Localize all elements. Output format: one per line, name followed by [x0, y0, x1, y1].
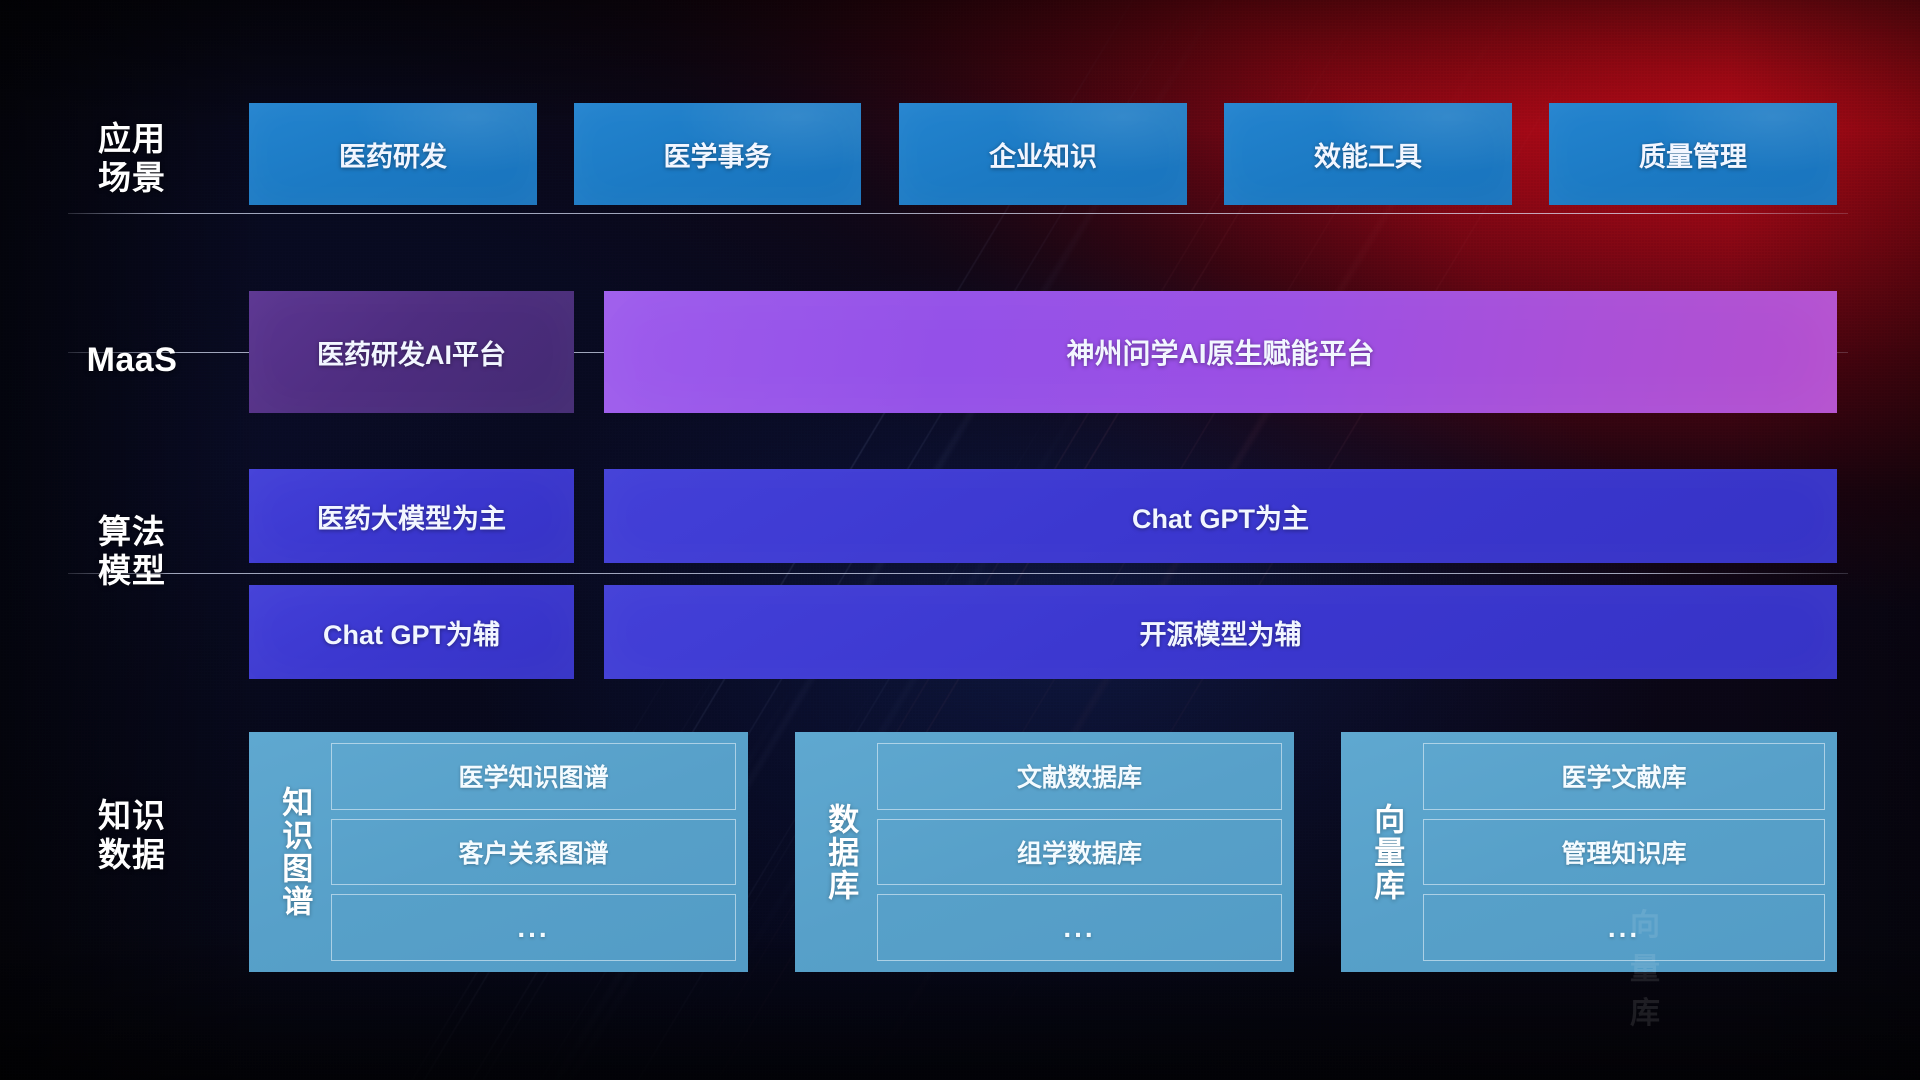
knowledge-panel-title: 向量库: [1349, 743, 1423, 961]
divider-line-3: [68, 573, 1848, 574]
row-label-algorithm: 算法 模型: [68, 513, 196, 591]
app-card-medical-affairs[interactable]: 医学事务: [574, 103, 861, 205]
maas-card-label: 神州问学AI原生赋能平台: [1066, 332, 1374, 372]
row-label-line: MaaS: [68, 340, 196, 380]
row-label-line: 算法: [68, 513, 196, 552]
knowledge-item-medical-literature[interactable]: 医学文献库: [1423, 743, 1825, 810]
knowledge-panel-item-list: 医学文献库 管理知识库 ...: [1423, 743, 1825, 961]
app-card-label: 企业知识: [989, 135, 1097, 174]
knowledge-panel-title: 知识图谱: [257, 743, 331, 961]
app-card-label: 效能工具: [1314, 135, 1422, 174]
algo-card-chatgpt-secondary[interactable]: Chat GPT为辅: [249, 585, 574, 679]
knowledge-panel-knowledge-graph[interactable]: 知识图谱 医学知识图谱 客户关系图谱 ...: [249, 732, 748, 972]
algo-card-chatgpt-primary[interactable]: Chat GPT为主: [604, 469, 1837, 563]
maas-card-shenzhou-wenxue-platform[interactable]: 神州问学AI原生赋能平台: [604, 291, 1837, 413]
app-card-enterprise-knowledge[interactable]: 企业知识: [899, 103, 1187, 205]
row-label-line: 数据: [68, 836, 196, 875]
algo-card-medicine-llm-primary[interactable]: 医药大模型为主: [249, 469, 574, 563]
algo-card-label: 开源模型为辅: [1140, 613, 1302, 652]
row-label-line: 应用: [68, 120, 196, 159]
divider-line-1: [68, 213, 1848, 214]
slide-canvas: 应用 场景 医药研发 医学事务 企业知识 效能工具 质量管理 MaaS: [0, 0, 1920, 1080]
knowledge-panel-title: 数据库: [803, 743, 877, 961]
algo-card-label: Chat GPT为主: [1132, 497, 1309, 536]
knowledge-item-literature-db[interactable]: 文献数据库: [877, 743, 1282, 810]
row-label-knowledge: 知识 数据: [68, 797, 196, 875]
diagram-content: 应用 场景 医药研发 医学事务 企业知识 效能工具 质量管理 MaaS: [0, 0, 1920, 1080]
algo-card-opensource-secondary[interactable]: 开源模型为辅: [604, 585, 1837, 679]
app-card-efficiency-tools[interactable]: 效能工具: [1224, 103, 1512, 205]
knowledge-item-more[interactable]: ...: [1423, 894, 1825, 961]
algo-card-label: Chat GPT为辅: [323, 613, 500, 652]
app-card-label: 医药研发: [339, 135, 447, 174]
app-card-label: 医学事务: [664, 135, 772, 174]
app-card-label: 质量管理: [1639, 135, 1747, 174]
knowledge-panel-item-list: 医学知识图谱 客户关系图谱 ...: [331, 743, 736, 961]
knowledge-item-customer-kg[interactable]: 客户关系图谱: [331, 819, 736, 886]
row-label-line: 知识: [68, 797, 196, 836]
maas-card-medicine-ai-platform[interactable]: 医药研发AI平台: [249, 291, 574, 413]
row-label-line: 模型: [68, 552, 196, 591]
knowledge-panel-item-list: 文献数据库 组学数据库 ...: [877, 743, 1282, 961]
row-label-application: 应用 场景: [68, 120, 196, 198]
knowledge-item-more[interactable]: ...: [331, 894, 736, 961]
knowledge-item-medical-kg[interactable]: 医学知识图谱: [331, 743, 736, 810]
app-card-medicine-rd[interactable]: 医药研发: [249, 103, 537, 205]
algo-card-label: 医药大模型为主: [317, 497, 506, 536]
knowledge-panel-vector-store[interactable]: 向量库 医学文献库 管理知识库 ...: [1341, 732, 1837, 972]
app-card-quality-management[interactable]: 质量管理: [1549, 103, 1837, 205]
row-label-line: 场景: [68, 159, 196, 198]
knowledge-item-omics-db[interactable]: 组学数据库: [877, 819, 1282, 886]
knowledge-item-more[interactable]: ...: [877, 894, 1282, 961]
knowledge-item-management-knowledge[interactable]: 管理知识库: [1423, 819, 1825, 886]
row-label-maas: MaaS: [68, 340, 196, 380]
maas-card-label: 医药研发AI平台: [317, 333, 506, 372]
knowledge-panel-database[interactable]: 数据库 文献数据库 组学数据库 ...: [795, 732, 1294, 972]
